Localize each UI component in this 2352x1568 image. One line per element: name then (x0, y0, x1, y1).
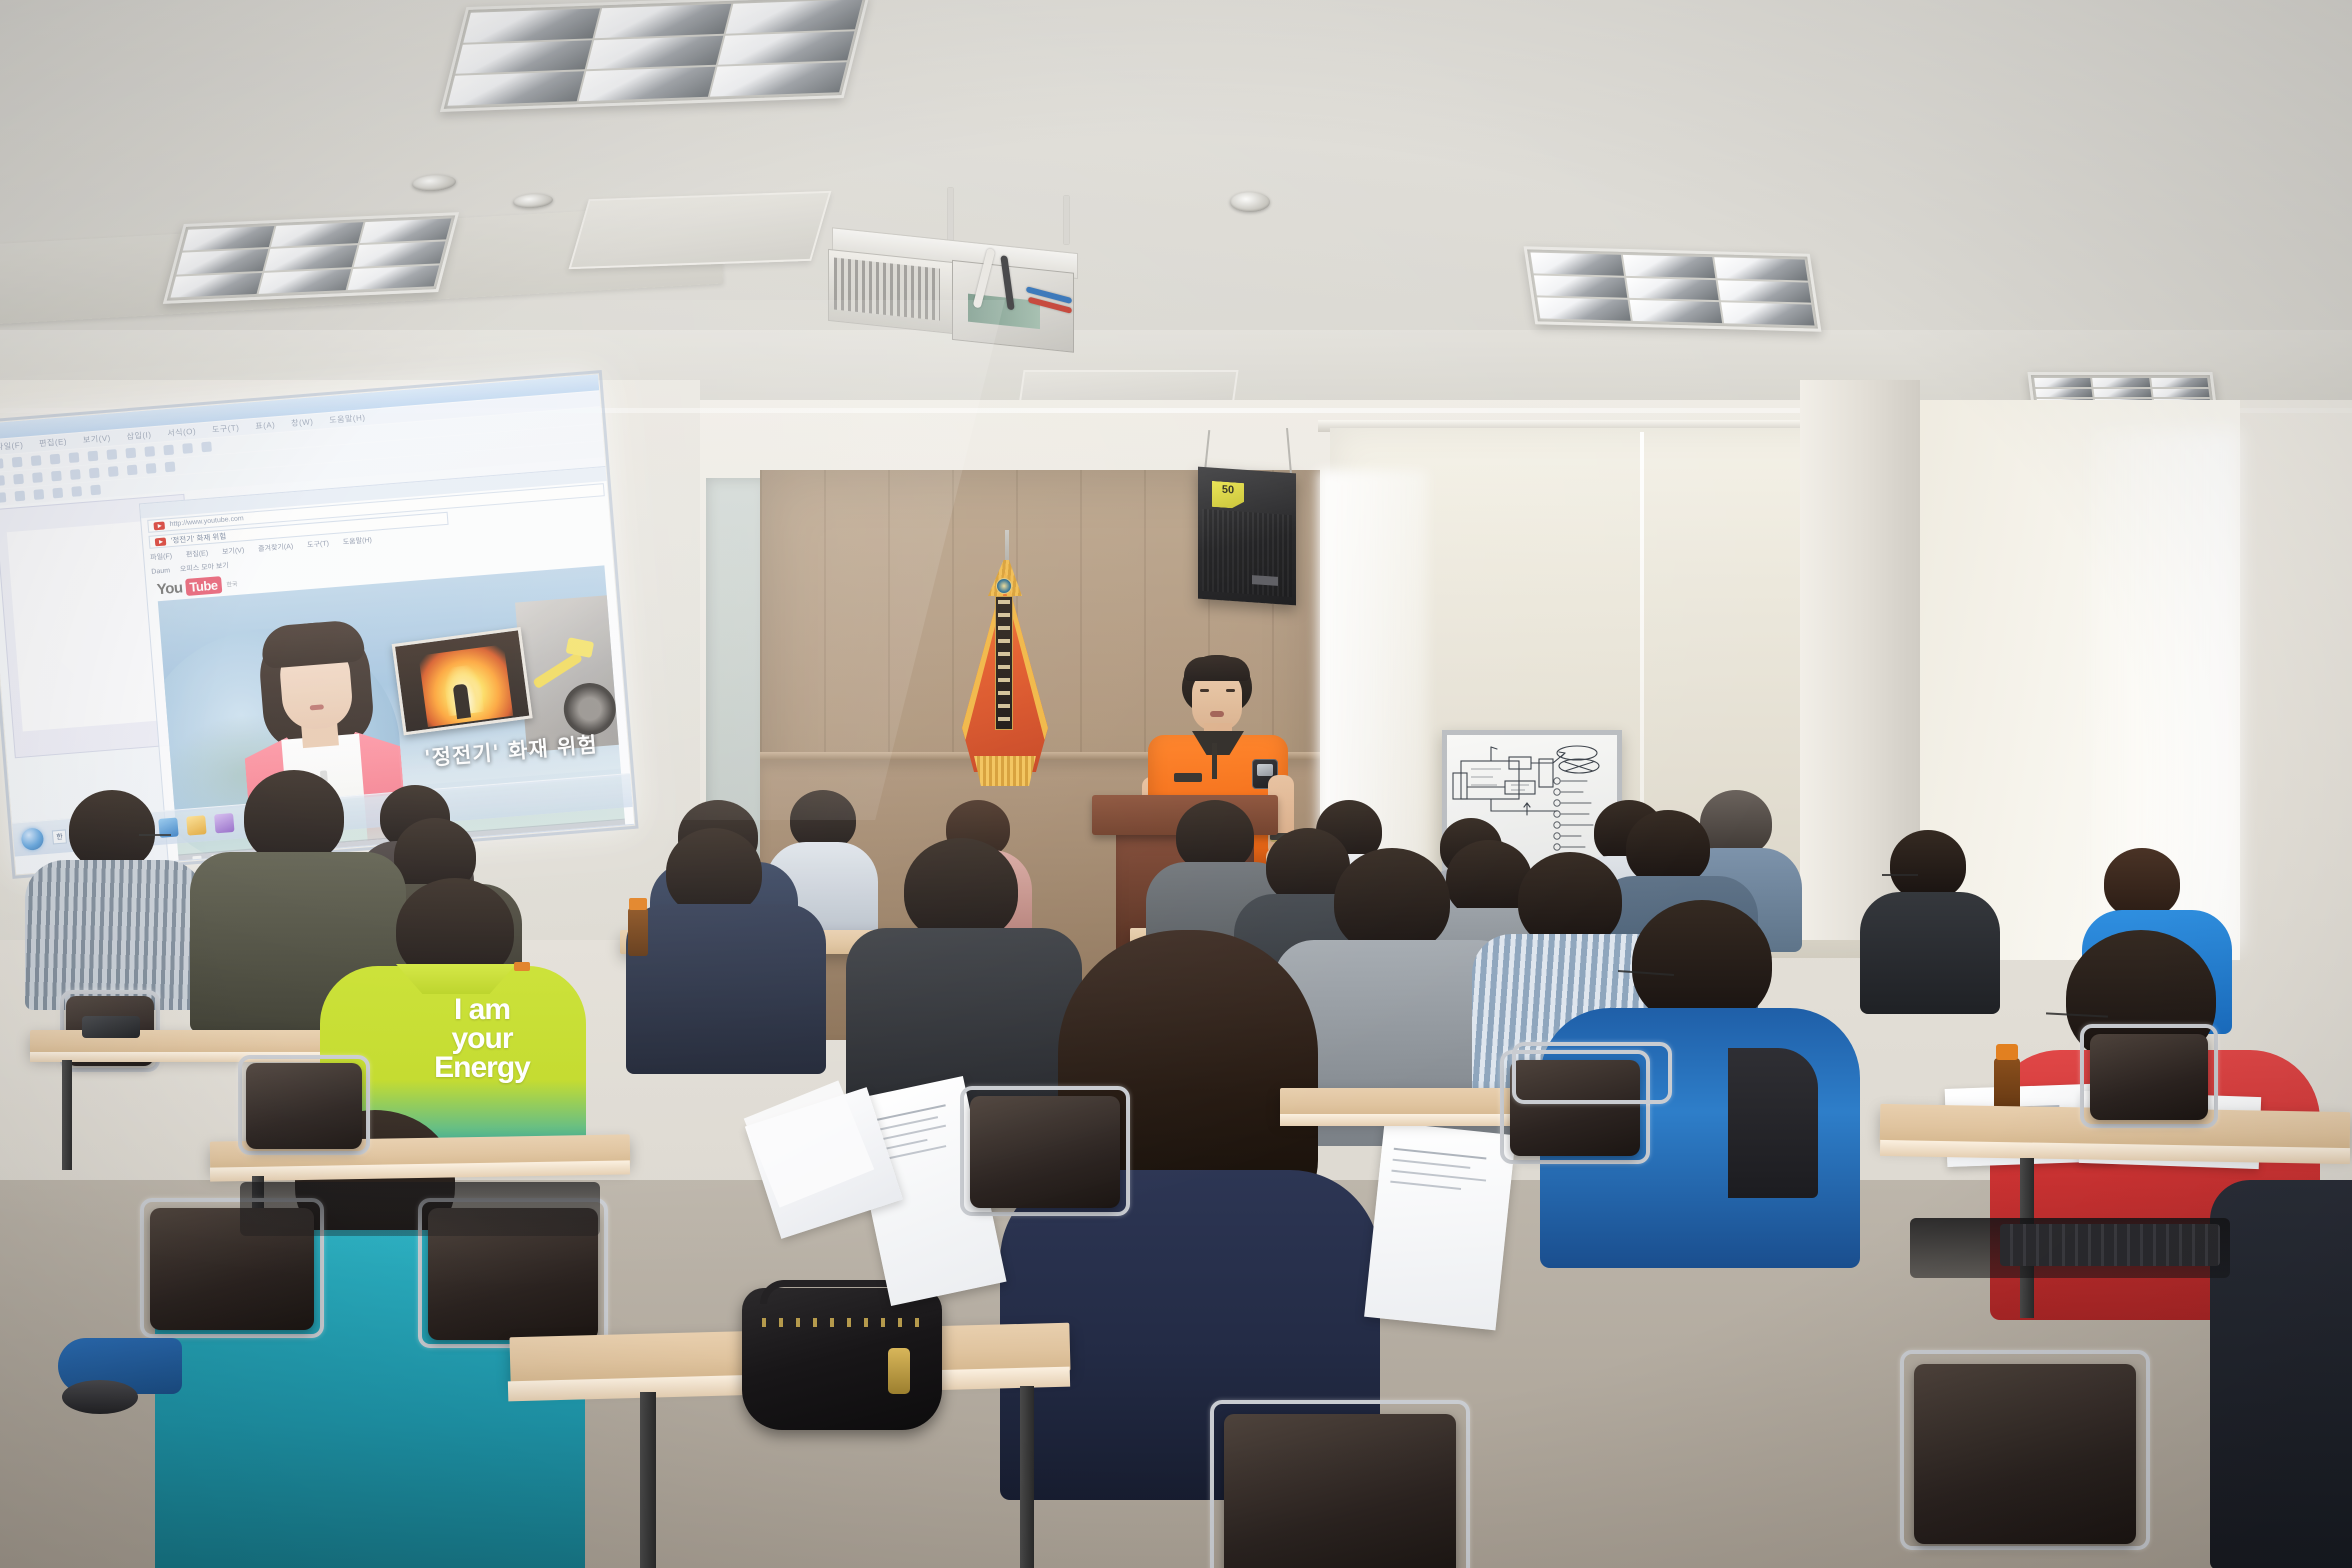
recessed-downlight-icon (1230, 192, 1270, 212)
person-head (69, 790, 155, 870)
keyboard[interactable] (2000, 1224, 2220, 1266)
person-head (1626, 810, 1710, 886)
chair[interactable] (1512, 1042, 1672, 1104)
banner-text-glyphs (998, 600, 1010, 726)
shirt-slogan-line1: I am (402, 996, 562, 1025)
shirt-slogan-line3: Energy (402, 1054, 562, 1083)
chair-caster-icon (62, 1380, 138, 1414)
chair-backrest (2090, 1034, 2208, 1120)
speaker-badge-text: 50 (1212, 481, 1244, 499)
banner-emblem-icon (996, 578, 1012, 594)
presenter-eye (1226, 689, 1235, 692)
person-shoulder-dark (1728, 1048, 1818, 1198)
handout-text-line (1394, 1148, 1487, 1160)
handout-text-line (1391, 1170, 1486, 1182)
drink-bottle[interactable] (628, 908, 648, 956)
eyeglasses-icon (1882, 874, 1918, 876)
person-head (2104, 848, 2180, 918)
speaker-grille (1202, 509, 1292, 597)
handout-sheet[interactable] (1364, 1122, 1516, 1331)
handout-text-line (1393, 1159, 1471, 1169)
bottle-cap-icon (629, 898, 647, 910)
under-desk-shadow (240, 1182, 600, 1236)
ceiling-light-fixture (163, 212, 459, 304)
person-torso (626, 904, 826, 1074)
projector-vent (834, 257, 940, 320)
person-torso (2210, 1180, 2352, 1568)
presenter-eye (1200, 689, 1209, 692)
projector-hanger (948, 188, 953, 244)
person-head (1700, 790, 1772, 856)
ceiling-light-fixture (440, 0, 870, 112)
smartphone[interactable] (82, 1016, 140, 1038)
speaker-brand-badge (1252, 575, 1278, 586)
chair-backrest (970, 1096, 1120, 1208)
desk-leg (640, 1392, 656, 1568)
bottle-cap-icon (1996, 1044, 2018, 1060)
chair-backrest (1914, 1364, 2136, 1544)
handout-text-line (1390, 1181, 1461, 1190)
person-torso (1860, 892, 2000, 1014)
person-torso (25, 860, 205, 1010)
chair-backrest (1224, 1414, 1456, 1568)
handbag-clasp-icon (888, 1348, 910, 1394)
presenter-name-tag (1174, 773, 1202, 782)
projector-hanger (1064, 196, 1069, 244)
person-head (790, 790, 856, 850)
handbag-studs (762, 1318, 922, 1327)
ceiling-light-fixture (1524, 246, 1822, 331)
shirt-slogan: I am your Energy (402, 996, 562, 1082)
presenter-shirt-placket (1212, 743, 1217, 779)
eyeglasses-icon (139, 834, 171, 836)
projector-shell (828, 227, 1078, 377)
shirt-slogan-line2: your (402, 1025, 562, 1054)
ceiling-air-diffuser (569, 191, 832, 269)
ceiling-projector (828, 240, 1078, 370)
person-head (904, 838, 1018, 942)
desk-leg (1020, 1386, 1034, 1568)
seminar-room-photo: 파일(F) 편집(E) 보기(V) 삽입(I) 서식(O) 도구(T) 표(A)… (0, 0, 2352, 1568)
presenter-patch-emblem-icon (1257, 764, 1273, 776)
collar-tab (514, 962, 530, 971)
handbag[interactable] (742, 1288, 942, 1430)
desk-leg (62, 1060, 72, 1170)
person-head (666, 828, 762, 916)
presenter-hairline (1184, 657, 1250, 681)
chair-backrest (246, 1063, 362, 1149)
person-head (1334, 848, 1450, 954)
person-head (244, 770, 344, 864)
person-head (1890, 830, 1966, 900)
presenter-mouth (1210, 711, 1224, 717)
